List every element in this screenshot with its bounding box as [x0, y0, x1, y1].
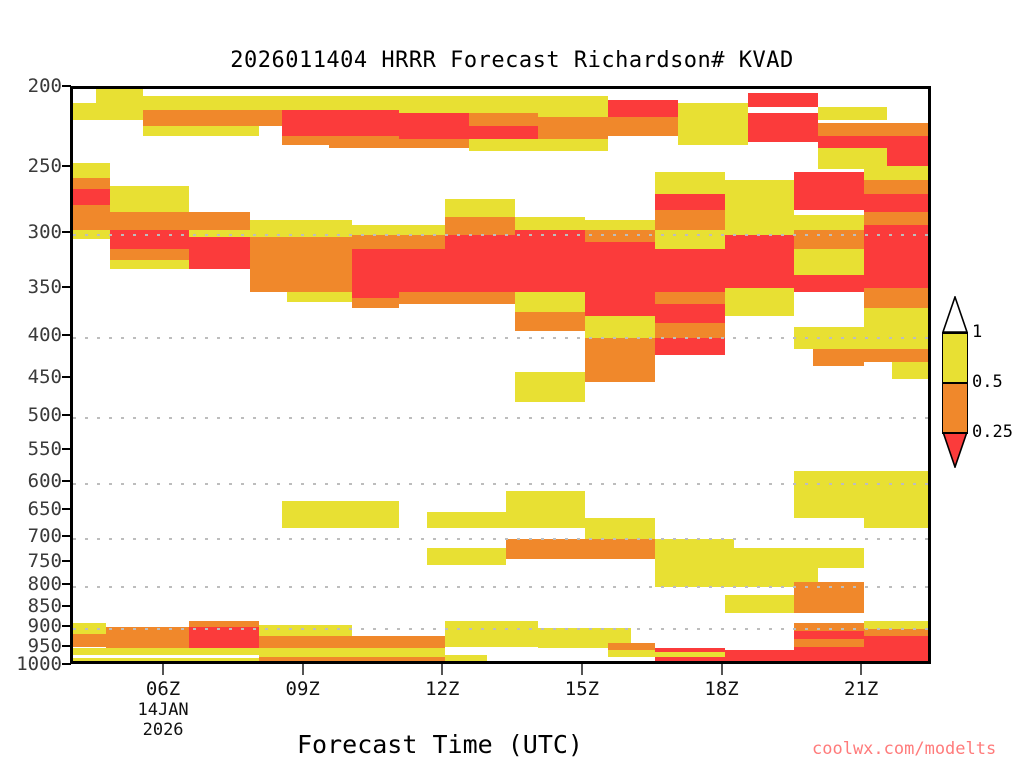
heatmap-cell [855, 349, 931, 363]
heatmap-cell [864, 629, 931, 636]
heatmap-cell [236, 110, 283, 127]
x-axis-tick-label: 12Z [425, 678, 459, 700]
heatmap-cell [189, 212, 250, 229]
heatmap-cell [538, 117, 608, 140]
y-axis-tick-label: 200 [28, 75, 62, 97]
heatmap-cell [506, 539, 655, 559]
heatmap-cell [352, 298, 399, 308]
heatmap-cell [469, 126, 539, 139]
heatmap-cell [585, 518, 655, 539]
y-axis-tick-label: 450 [28, 366, 62, 388]
heatmap-cell [655, 568, 818, 586]
x-axis-tick-label: 09Z [286, 678, 320, 700]
heatmap-cell [287, 292, 352, 302]
heatmap-cell [445, 655, 487, 661]
heatmap-cell [445, 235, 515, 256]
heatmap-cell [250, 237, 352, 256]
heatmap-cell [655, 292, 725, 304]
heatmap-cell [515, 246, 585, 292]
heatmap-cell [282, 136, 329, 145]
heatmap-cell [469, 139, 539, 151]
heatmap-cell [352, 235, 445, 249]
heatmap-cell [748, 93, 818, 107]
heatmap-cell [864, 166, 931, 180]
heatmap-cell [725, 235, 795, 288]
heatmap-cell [818, 107, 888, 120]
heatmap-cell [655, 210, 725, 230]
chart-title: 2026011404 HRRR Forecast Richardson# KVA… [0, 48, 1024, 73]
heatmap-cell [864, 194, 931, 212]
x-axis-tick-mark [162, 664, 164, 675]
heatmap-cell [445, 199, 515, 217]
heatmap-cell [864, 288, 931, 308]
heatmap-cell [794, 647, 864, 664]
colorbar-segment-yellow [942, 332, 968, 382]
heatmap-cell [813, 349, 864, 366]
x-axis-title: Forecast Time (UTC) [70, 730, 810, 759]
heatmap-cell [892, 362, 931, 378]
x-axis-tick-mark [441, 664, 443, 675]
heatmap-cell [864, 501, 931, 528]
heatmap-cell [864, 636, 931, 664]
heatmap-cell [515, 217, 585, 229]
x-axis-tick-label: 18Z [704, 678, 738, 700]
heatmap-cell [794, 249, 864, 276]
heatmap-cell [110, 249, 189, 260]
heatmap-cell [515, 230, 585, 247]
heatmap-cells [73, 89, 928, 661]
heatmap-cell [110, 230, 189, 249]
heatmap-cell [655, 338, 725, 356]
heatmap-cell [585, 316, 655, 338]
y-axis-tick-label: 350 [28, 276, 62, 298]
heatmap-cell [794, 631, 864, 639]
heatmap-cell [445, 256, 515, 292]
heatmap-cell [73, 648, 259, 655]
heatmap-cell [794, 230, 864, 249]
heatmap-cell [608, 117, 678, 136]
heatmap-cell [73, 178, 110, 189]
heatmap-cell [538, 628, 631, 641]
heatmap-cell [445, 639, 538, 647]
heatmap-plot-area [70, 86, 931, 664]
heatmap-cell [352, 225, 445, 235]
heatmap-cell [608, 643, 655, 651]
heatmap-cell [864, 308, 931, 331]
heatmap-cell [608, 650, 655, 656]
heatmap-cell [73, 163, 110, 177]
heatmap-cell [585, 230, 655, 242]
heatmap-cell [73, 205, 110, 230]
heatmap-cell [655, 249, 725, 292]
heatmap-cell [794, 639, 864, 647]
heatmap-cell [864, 242, 931, 288]
heatmap-cell [794, 623, 864, 631]
watermark: coolwx.com/modelts [812, 739, 996, 759]
heatmap-cell [734, 548, 864, 568]
colorbar-divider [942, 382, 968, 384]
y-axis-tick-label: 700 [28, 525, 62, 547]
heatmap-cell [864, 212, 931, 225]
heatmap-cell [399, 139, 469, 148]
colorbar-segment-orange [942, 382, 968, 432]
heatmap-cell [352, 249, 445, 280]
heatmap-cell [655, 657, 725, 664]
heatmap-cell [515, 372, 585, 402]
heatmap-cell [515, 292, 585, 312]
heatmap-cell [189, 237, 250, 256]
heatmap-cell [725, 288, 795, 316]
x-axis-tick-label: 15Z [565, 678, 599, 700]
colorbar-cap-above-1 [942, 296, 968, 332]
heatmap-cell [864, 180, 931, 194]
heatmap-cell [655, 194, 725, 210]
heatmap-cell [96, 89, 143, 103]
y-axis-tick-label: 650 [28, 498, 62, 520]
heatmap-cell [515, 312, 585, 331]
heatmap-cell [725, 650, 795, 664]
heatmap-cell [73, 658, 259, 663]
heatmap-cell [73, 103, 143, 120]
heatmap-cell [818, 123, 931, 136]
heatmap-cell [506, 491, 585, 529]
heatmap-cell [250, 280, 352, 292]
heatmap-cell [678, 123, 748, 145]
heatmap-cell [259, 625, 352, 636]
x-axis-labels: 06Z09Z12Z15Z18Z21Z14JAN2026 [70, 678, 931, 702]
y-axis-tick-label: 550 [28, 438, 62, 460]
heatmap-cell [585, 242, 655, 288]
y-axis-tick-label: 800 [28, 573, 62, 595]
heatmap-cell [73, 189, 110, 205]
y-axis-labels: 2002503003504004505005506006507007508008… [0, 86, 62, 664]
heatmap-cell [399, 113, 469, 139]
heatmap-cell [725, 180, 795, 199]
heatmap-cell [585, 288, 655, 316]
heatmap-cell [143, 126, 190, 136]
heatmap-cell [329, 136, 399, 148]
heatmap-cell [818, 136, 931, 148]
heatmap-cell [143, 96, 283, 110]
x-axis-tick-label: 21Z [844, 678, 878, 700]
colorbar-divider [942, 332, 968, 334]
heatmap-cell [73, 623, 106, 634]
heatmap-cell [259, 648, 445, 657]
colorbar-legend: 10.50.25 [942, 296, 970, 468]
heatmap-cell [427, 548, 506, 565]
heatmap-cell [655, 323, 725, 338]
colorbar-label: 0.5 [972, 372, 1003, 392]
heatmap-cell [189, 230, 250, 237]
heatmap-cell [887, 148, 931, 166]
heatmap-cell [143, 110, 236, 127]
heatmap-cell [282, 501, 398, 528]
heatmap-cell [748, 113, 818, 142]
x-axis-tick-mark [302, 664, 304, 675]
x-axis-tick-label: 06Z [146, 678, 180, 700]
heatmap-cell [725, 217, 795, 234]
heatmap-cell [469, 113, 539, 126]
heatmap-cell [585, 338, 655, 382]
heatmap-cell [585, 220, 655, 230]
heatmap-cell [259, 657, 445, 662]
heatmap-cell [538, 96, 608, 117]
heatmap-cell [73, 634, 106, 647]
heatmap-cell [110, 186, 189, 212]
heatmap-cell [250, 256, 352, 280]
colorbar-divider [942, 432, 968, 434]
x-axis-tick-mark [721, 664, 723, 675]
y-axis-tick-label: 500 [28, 404, 62, 426]
heatmap-cell [794, 275, 864, 292]
y-axis-tick-label: 750 [28, 550, 62, 572]
x-axis-ticks [70, 664, 931, 676]
heatmap-cell [608, 100, 678, 117]
x-axis-tick-mark [860, 664, 862, 675]
heatmap-cell [445, 621, 538, 639]
heatmap-cell [259, 636, 445, 648]
heatmap-cell [725, 199, 795, 217]
y-axis-tick-label: 300 [28, 221, 62, 243]
heatmap-cell [250, 220, 352, 237]
heatmap-cell [655, 304, 725, 323]
y-axis-tick-label: 400 [28, 324, 62, 346]
y-axis-tick-label: 850 [28, 595, 62, 617]
y-axis-tick-label: 600 [28, 470, 62, 492]
heatmap-cell [445, 217, 515, 234]
colorbar-cap-below-025 [942, 432, 968, 468]
heatmap-cell [399, 96, 469, 113]
heatmap-cell [282, 96, 398, 110]
heatmap-cell [794, 215, 864, 230]
heatmap-cell [864, 225, 931, 242]
colorbar-label: 1 [972, 322, 982, 342]
heatmap-cell [189, 126, 259, 136]
heatmap-cell [110, 212, 189, 229]
heatmap-cell [678, 103, 748, 123]
chart-canvas: 2026011404 HRRR Forecast Richardson# KVA… [0, 0, 1024, 768]
heatmap-cell [427, 512, 506, 528]
x-axis-tick-mark [581, 664, 583, 675]
y-axis-tick-label: 1000 [16, 653, 62, 675]
colorbar-label: 0.25 [972, 422, 1013, 442]
heatmap-cell [725, 595, 795, 613]
heatmap-cell [189, 627, 259, 648]
heatmap-cell [864, 331, 931, 349]
heatmap-cell [655, 230, 725, 249]
heatmap-cell [189, 256, 250, 269]
heatmap-cell [794, 582, 864, 612]
heatmap-cell [794, 191, 864, 209]
heatmap-cell [110, 260, 189, 269]
heatmap-cell [329, 110, 399, 136]
heatmap-cell [794, 172, 864, 191]
heatmap-cell [864, 621, 931, 629]
heatmap-cell [469, 96, 539, 113]
heatmap-cell [399, 292, 515, 304]
heatmap-cell [655, 172, 725, 194]
heatmap-cell [655, 539, 734, 569]
heatmap-cell [106, 627, 190, 648]
heatmap-cell [538, 139, 608, 151]
heatmap-cell [794, 327, 864, 349]
heatmap-cell [73, 230, 110, 240]
y-axis-tick-label: 250 [28, 155, 62, 177]
